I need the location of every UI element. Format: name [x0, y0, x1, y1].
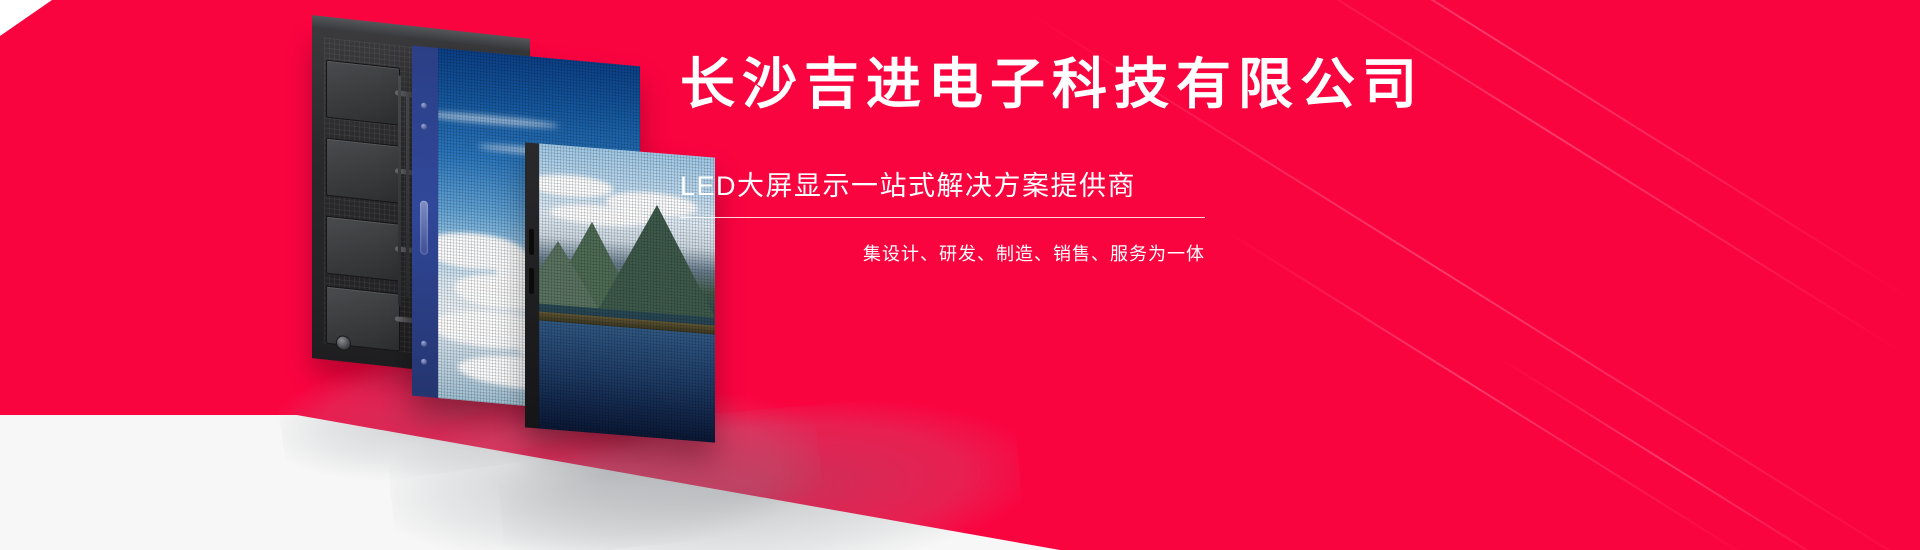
subtitle-group: LED大屏显示一站式解决方案提供商 集设计、研发、制造、销售、服务为一体 [680, 169, 1205, 266]
cabinet-cable [398, 76, 401, 306]
cabinet-module [326, 60, 400, 126]
panel-vent [529, 268, 534, 294]
company-title: 长沙吉进电子科技有限公司 [680, 52, 1420, 117]
panel-screw [421, 340, 427, 347]
lake-reflection [539, 320, 715, 442]
banner-tagline: 集设计、研发、制造、销售、服务为一体 [680, 240, 1205, 266]
cabinet-module [326, 138, 400, 204]
banner-text-block: 长沙吉进电子科技有限公司 LED大屏显示一站式解决方案提供商 集设计、研发、制造… [680, 52, 1420, 266]
panel-side-frame [412, 46, 438, 398]
panel-screw [421, 358, 427, 365]
hero-banner: 长沙吉进电子科技有限公司 LED大屏显示一站式解决方案提供商 集设计、研发、制造… [0, 0, 1920, 550]
subtitle-divider [680, 217, 1205, 218]
banner-subtitle: LED大屏显示一站式解决方案提供商 [680, 169, 1205, 204]
panel-vent [529, 228, 534, 254]
panel-screw [421, 123, 427, 130]
panel-handle [420, 200, 428, 255]
panel-side-frame [525, 142, 539, 428]
cabinet-cable [406, 96, 409, 296]
cabinet-module [326, 216, 400, 282]
panel-screw [421, 102, 427, 109]
